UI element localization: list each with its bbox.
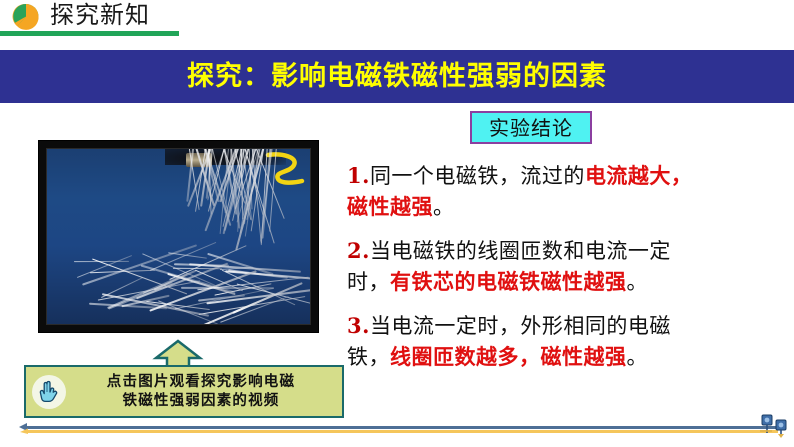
conclusion-number: 1. <box>347 163 370 188</box>
pin <box>77 255 132 278</box>
conclusion-highlight: 磁性越强 <box>347 195 433 219</box>
bottom-divider <box>24 426 776 429</box>
photo-image <box>46 148 311 325</box>
conclusion-item: 1.同一个电磁铁，流过的电流越大，磁性越强。 <box>347 160 794 223</box>
conclusion-highlight: 有铁芯的电磁铁磁性越强 <box>390 270 627 294</box>
conclusion-text: 当电流一定时，外形相同的电磁 <box>370 314 671 338</box>
left-arrow-icon <box>18 421 34 437</box>
conclusion-number: 3. <box>347 313 370 338</box>
page-header: 探究新知 <box>0 0 794 42</box>
conclusion-text: 当电磁铁的线圈匝数和电流一定 <box>370 239 671 263</box>
conclusion-number: 2. <box>347 238 370 263</box>
conclusion-text: 。 <box>627 270 649 294</box>
decorative-ornament-icon <box>758 409 792 439</box>
conclusion-text: 同一个电磁铁，流过的 <box>370 164 585 188</box>
callout-text: 点击图片观看探究影响电磁 铁磁性强弱因素的视频 <box>66 373 342 411</box>
conclusion-text: 铁， <box>347 345 390 369</box>
conclusion-item: 2.当电磁铁的线圈匝数和电流一定时，有铁芯的电磁铁磁性越强。 <box>347 235 794 298</box>
conclusion-item: 3.当电流一定时，外形相同的电磁铁，线圈匝数越多，磁性越强。 <box>347 310 794 373</box>
video-callout[interactable]: 点击图片观看探究影响电磁 铁磁性强弱因素的视频 <box>24 365 344 418</box>
conclusion-highlight: 电流越大， <box>585 164 693 188</box>
title-banner-text: 探究：影响电磁铁磁性强弱的因素 <box>187 61 607 93</box>
conclusion-text: 。 <box>433 195 455 219</box>
header-underline <box>0 31 179 36</box>
page-title: 探究新知 <box>50 0 150 30</box>
experiment-photo[interactable] <box>38 140 319 333</box>
conclusion-highlight: 线圈匝数越多，磁性越强 <box>390 345 627 369</box>
bottom-divider-accent <box>26 430 778 433</box>
conclusion-list: 1.同一个电磁铁，流过的电流越大，磁性越强。2.当电磁铁的线圈匝数和电流一定时，… <box>347 160 794 385</box>
title-banner: 探究：影响电磁铁磁性强弱的因素 <box>0 50 794 103</box>
callout-line-1: 点击图片观看探究影响电磁 <box>66 373 336 392</box>
pointing-hand-icon <box>32 375 66 409</box>
pie-chart-icon <box>12 3 42 30</box>
conclusion-text: 。 <box>627 345 649 369</box>
conclusion-badge-text: 实验结论 <box>489 116 573 140</box>
callout-line-2: 铁磁性强弱因素的视频 <box>66 392 336 411</box>
conclusion-badge: 实验结论 <box>470 111 592 144</box>
conclusion-text: 时， <box>347 270 390 294</box>
